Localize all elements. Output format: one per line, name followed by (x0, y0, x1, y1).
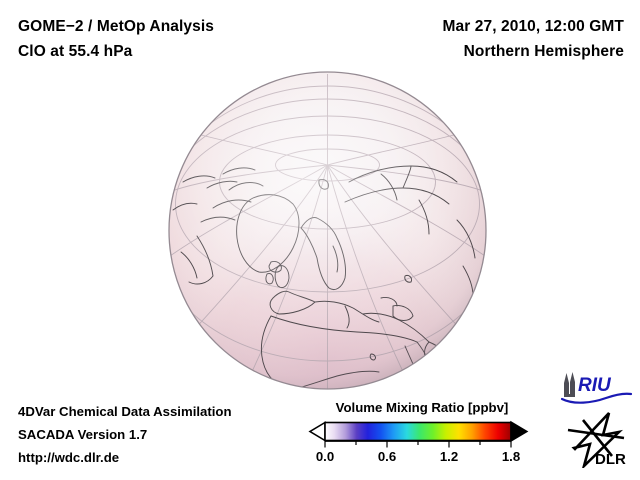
colorbar-tick-label: 0.6 (378, 449, 396, 464)
species-level-title: ClO at 55.4 hPa (18, 39, 214, 64)
cathedral-spires-icon (564, 372, 575, 397)
colorbar-title: Volume Mixing Ratio [ppbv] (310, 400, 534, 416)
riu-logo-svg: RIU (558, 371, 634, 405)
dlr-wordmark: DLR (595, 451, 626, 468)
globe-limb-shading (169, 72, 486, 389)
footer-left: 4DVar Chemical Data Assimilation SACADA … (18, 400, 232, 469)
riu-logo: RIU (558, 371, 634, 410)
colorbar-svg: 0.0 0.6 1.2 1.8 (306, 420, 546, 466)
colorbar-gradient (325, 423, 511, 441)
colorbar-tick-label: 1.2 (440, 449, 458, 464)
timestamp-label: Mar 27, 2010, 12:00 GMT (442, 14, 624, 39)
globe-svg (167, 70, 488, 391)
dlr-logo-svg: DLR (562, 408, 632, 468)
colorbar-over-arrow (511, 422, 527, 441)
colorbar-tick-labels: 0.0 0.6 1.2 1.8 (316, 449, 520, 464)
colorbar-under-arrow (310, 423, 325, 441)
riu-wordmark: RIU (578, 375, 612, 396)
method-label: 4DVar Chemical Data Assimilation (18, 400, 232, 423)
colorbar-tick-label: 0.0 (316, 449, 334, 464)
header-left: GOME−2 / MetOp Analysis ClO at 55.4 hPa (18, 14, 214, 64)
colorbar: Volume Mixing Ratio [ppbv] (306, 400, 546, 466)
plot-canvas: GOME−2 / MetOp Analysis ClO at 55.4 hPa … (0, 0, 640, 480)
colorbar-ticks (325, 441, 511, 447)
website-link[interactable]: http://wdc.dlr.de (18, 446, 232, 469)
colorbar-tick-label: 1.8 (502, 449, 520, 464)
dlr-logo: DLR (562, 408, 632, 473)
instrument-title: GOME−2 / MetOp Analysis (18, 14, 214, 39)
version-label: SACADA Version 1.7 (18, 423, 232, 446)
header-right: Mar 27, 2010, 12:00 GMT Northern Hemisph… (442, 14, 624, 64)
globe-map (167, 70, 488, 391)
hemisphere-label: Northern Hemisphere (442, 39, 624, 64)
